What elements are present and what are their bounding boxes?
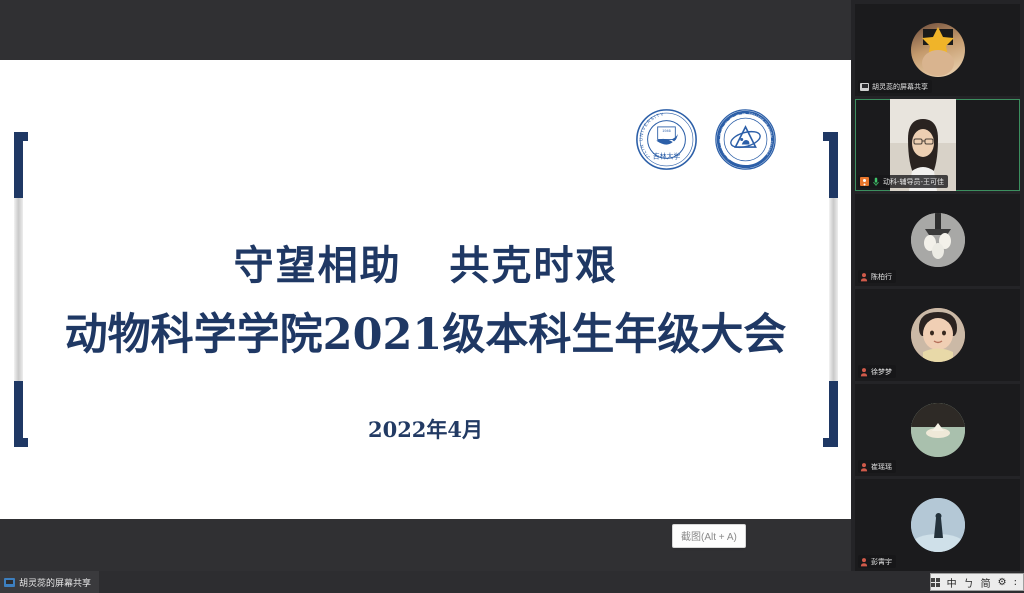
jilin-university-logo: JILIN UNIVERSITY · CHINA 1946 吉林大学 <box>635 108 698 171</box>
microphone-on-icon <box>872 177 880 187</box>
slide-title-line1: 守望相助 共克时艰 <box>28 242 823 290</box>
tile-name-bar: 胡灵蕊的屏幕共享 <box>858 80 932 93</box>
tile-name-bar: 动科-辅导员-王可佳 <box>858 175 948 188</box>
avatar <box>911 23 965 77</box>
avatar-badge-icon <box>860 367 868 377</box>
taskbar-window-label: 胡灵蕊的屏幕共享 <box>19 576 91 589</box>
avatar <box>911 213 965 267</box>
frame-left-gray <box>14 190 23 390</box>
participant-name: 动科-辅导员-王可佳 <box>883 177 944 187</box>
ime-colon: : <box>1014 577 1017 588</box>
participant-tile[interactable]: 胡灵蕊的屏幕共享 <box>855 4 1020 96</box>
ime-settings-icon[interactable]: ⚙ <box>998 577 1007 588</box>
ime-simplified[interactable]: 简 <box>981 575 991 590</box>
participant-tile[interactable]: 崔瑶瑶 <box>855 384 1020 476</box>
taskbar-window-button[interactable]: 胡灵蕊的屏幕共享 <box>0 571 99 593</box>
tile-name-bar: 徐梦梦 <box>858 365 896 378</box>
participant-name: 陈柏行 <box>871 272 892 282</box>
host-badge-icon <box>860 177 869 186</box>
frame-corner-bottom-left-v <box>14 381 23 447</box>
slide-title-line2: 动物科学学院2021级本科生年级大会 <box>28 310 823 362</box>
frame-right-gray <box>829 190 838 390</box>
participant-tile[interactable]: 徐梦梦 <box>855 289 1020 381</box>
slide-content: JILIN UNIVERSITY · CHINA 1946 吉林大学 <box>28 82 823 497</box>
avatar-badge-icon <box>860 462 868 472</box>
tile-name-bar: 陈柏行 <box>858 270 896 283</box>
screen-share-icon <box>860 83 869 91</box>
slide-date: 2022年4月 <box>28 414 823 444</box>
avatar-badge-icon <box>860 272 868 282</box>
participant-tile[interactable]: 动科-辅导员-王可佳 <box>855 99 1020 191</box>
taskbar[interactable]: 胡灵蕊的屏幕共享 中 ㄅ 简 ⚙ : <box>0 571 1024 593</box>
frame-corner-top-right-v <box>829 132 838 198</box>
share-top-letterbox <box>0 0 851 60</box>
animal-science-college-logo: 吉林大学动物科学学院 COLLEGE OF ANIMAL SCIENCE <box>714 108 777 171</box>
ime-tray[interactable]: 中 ㄅ 简 ⚙ : <box>930 573 1024 591</box>
slide-logos: JILIN UNIVERSITY · CHINA 1946 吉林大学 <box>635 108 777 171</box>
avatar <box>911 403 965 457</box>
svg-text:1946: 1946 <box>662 129 670 133</box>
avatar <box>911 308 965 362</box>
ime-grid-icon <box>931 578 940 587</box>
participant-name: 彭霄宇 <box>871 557 892 567</box>
shared-screen-area[interactable]: JILIN UNIVERSITY · CHINA 1946 吉林大学 <box>0 0 851 571</box>
screen-share-icon <box>4 578 15 587</box>
meeting-screen-share-window: JILIN UNIVERSITY · CHINA 1946 吉林大学 <box>0 0 1024 593</box>
ime-mode-icon[interactable]: ㄅ <box>964 575 974 590</box>
svg-text:吉林大学: 吉林大学 <box>653 151 681 160</box>
slide-title-block: 守望相助 共克时艰 动物科学学院2021级本科生年级大会 2022年4月 <box>28 242 823 444</box>
participant-panel[interactable]: 胡灵蕊的屏幕共享 <box>851 0 1024 571</box>
participant-name: 徐梦梦 <box>871 367 892 377</box>
snip-tooltip[interactable]: 截图(Alt + A) <box>672 524 746 548</box>
tile-name-bar: 崔瑶瑶 <box>858 460 896 473</box>
ime-lang[interactable]: 中 <box>947 575 957 590</box>
frame-corner-top-left-v <box>14 132 23 198</box>
participant-name: 崔瑶瑶 <box>871 462 892 472</box>
participant-name: 胡灵蕊的屏幕共享 <box>872 82 928 92</box>
participant-tile[interactable]: 彭霄宇 <box>855 479 1020 571</box>
avatar-badge-icon <box>860 557 868 567</box>
presentation-slide: JILIN UNIVERSITY · CHINA 1946 吉林大学 <box>0 60 851 519</box>
frame-corner-bottom-right-v <box>829 381 838 447</box>
participant-tile[interactable]: 陈柏行 <box>855 194 1020 286</box>
avatar <box>911 498 965 552</box>
tile-name-bar: 彭霄宇 <box>858 555 896 568</box>
